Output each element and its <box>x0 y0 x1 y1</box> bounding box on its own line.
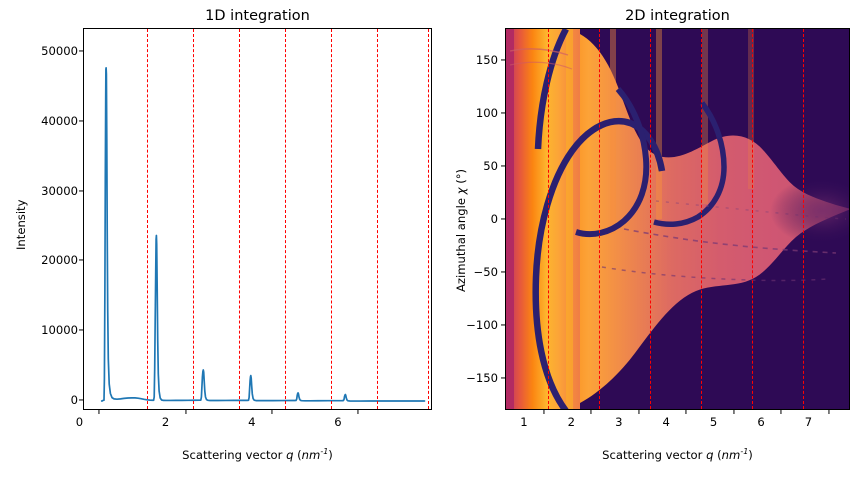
heatmap-ring-q3 <box>656 29 662 219</box>
panel-1d-curve-layer <box>84 29 431 409</box>
panel-1d-y-axis-label: Intensity <box>14 200 28 250</box>
x-label-unit-close: ) <box>328 448 333 462</box>
x-tick-label: 4 <box>232 415 272 429</box>
marker-line-q2 <box>193 29 194 409</box>
heatmap-intensity-body <box>506 29 850 410</box>
x-label-unit: nm <box>722 448 741 462</box>
panel-1d-plot-area <box>83 28 432 410</box>
marker-line-q6 <box>803 29 804 409</box>
x-tick-label: 3 <box>599 415 639 429</box>
y-tick-label: 50 <box>453 159 498 173</box>
marker-line-q5 <box>752 29 753 409</box>
marker-line-q7 <box>428 29 429 409</box>
x-label-prefix: Scattering vector <box>182 448 286 462</box>
x-tick-label: 2 <box>551 415 591 429</box>
y-tick-label: 150 <box>453 53 498 67</box>
y-tick-label: 0 <box>453 212 498 226</box>
marker-line-q1 <box>548 29 549 409</box>
y-tick-label: −150 <box>453 371 498 385</box>
x-tick-mark <box>185 410 186 414</box>
marker-line-q2 <box>599 29 600 409</box>
x-tick-mark <box>638 410 639 414</box>
y-tick-label: 20000 <box>8 253 78 267</box>
marker-line-q4 <box>701 29 702 409</box>
panel-2d-title: 2D integration <box>505 8 850 24</box>
heatmap-layer <box>506 29 849 409</box>
panel-2d-x-axis-label: Scattering vector q (nm-1) <box>505 447 850 462</box>
x-tick-mark <box>828 410 829 414</box>
marker-line-q5 <box>331 29 332 409</box>
x-tick-label: 5 <box>694 415 734 429</box>
y-label-symbol-chi: χ <box>454 187 468 194</box>
y-tick-label: 30000 <box>8 184 78 198</box>
x-tick-label: 7 <box>789 415 829 429</box>
x-tick-mark <box>271 410 272 414</box>
heatmap-ring-q1 <box>566 29 573 410</box>
y-tick-label: 10000 <box>8 323 78 337</box>
x-tick-mark <box>686 410 687 414</box>
x-tick-mark <box>99 410 100 414</box>
y-tick-label: 50000 <box>8 44 78 58</box>
marker-line-q3 <box>239 29 240 409</box>
x-label-unit-open: ( <box>293 448 301 462</box>
intensity-curve-svg <box>84 29 432 410</box>
y-tick-label: 0 <box>8 393 78 407</box>
x-label-unit: nm <box>302 448 321 462</box>
y-tick-label: −50 <box>453 265 498 279</box>
y-tick-label: 100 <box>453 106 498 120</box>
panel-1d-title: 1D integration <box>83 8 432 24</box>
x-tick-mark <box>733 410 734 414</box>
x-label-unit-close: ) <box>748 448 753 462</box>
x-tick-label: 2 <box>146 415 186 429</box>
x-tick-label: 6 <box>741 415 781 429</box>
marker-line-q4 <box>285 29 286 409</box>
x-tick-mark <box>543 410 544 414</box>
x-tick-mark <box>781 410 782 414</box>
intensity-curve-path <box>102 68 425 401</box>
x-tick-label: 0 <box>59 415 99 429</box>
x-tick-mark <box>357 410 358 414</box>
panel-2d-integration: 2D integration Azimuthal angle χ (°) 150… <box>440 0 868 478</box>
marker-line-q1 <box>147 29 148 409</box>
x-tick-label: 1 <box>504 415 544 429</box>
heatmap-ring-q2 <box>610 29 616 234</box>
y-tick-label: −100 <box>453 318 498 332</box>
x-label-unit-open: ( <box>713 448 721 462</box>
x-tick-mark <box>591 410 592 414</box>
panel-1d-x-axis-label: Scattering vector q (nm-1) <box>83 447 432 462</box>
marker-line-q3 <box>650 29 651 409</box>
y-tick-label: 40000 <box>8 114 78 128</box>
panel-1d-integration: 1D integration Intensity 0 10000 20000 3… <box>0 0 440 478</box>
heatmap-edge-sliver <box>506 29 514 410</box>
panel-2d-plot-area <box>505 28 850 410</box>
x-tick-label: 4 <box>646 415 686 429</box>
x-tick-label: 6 <box>318 415 358 429</box>
marker-line-q6 <box>377 29 378 409</box>
x-label-prefix: Scattering vector <box>602 448 706 462</box>
heatmap-ring-q4 <box>702 29 708 204</box>
figure-canvas: 1D integration Intensity 0 10000 20000 3… <box>0 0 868 478</box>
